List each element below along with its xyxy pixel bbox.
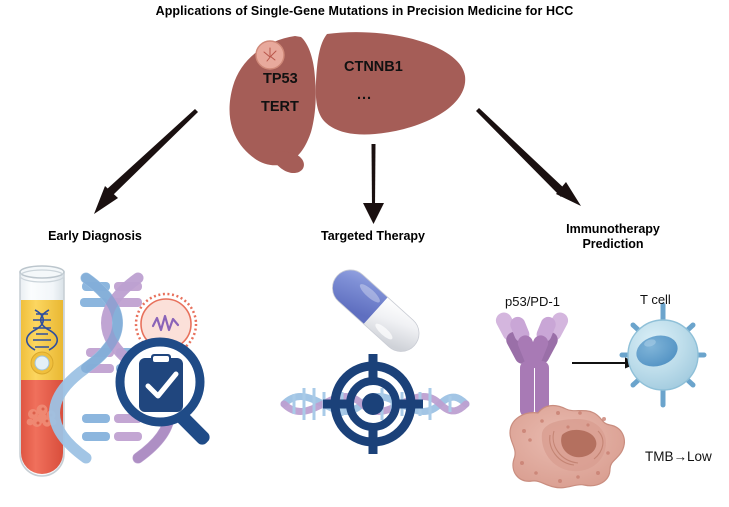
panel-targeted-therapy — [280, 262, 470, 462]
section-label-immunotherapy: Immunotherapy Prediction — [518, 222, 708, 253]
tcell-label: T cell — [640, 292, 671, 307]
arrow-group — [0, 0, 729, 240]
clipboard-icon — [139, 354, 183, 412]
figure-root: Applications of Single-Gene Mutations in… — [0, 0, 729, 507]
tmb-label: TMB→Low — [645, 449, 712, 464]
panel-immunotherapy-prediction — [480, 285, 729, 500]
section-label-early-diagnosis: Early Diagnosis — [10, 229, 180, 244]
panel-early-diagnosis — [8, 262, 238, 487]
arrow-to-targeted-therapy — [363, 144, 384, 224]
crosshair-target-icon — [323, 354, 423, 454]
t-cell-icon — [622, 305, 704, 405]
antibody-label: p53/PD-1 — [505, 294, 560, 309]
pill-capsule-icon — [325, 262, 426, 358]
arrow-to-immunotherapy — [476, 108, 581, 206]
arrow-to-early-diagnosis — [94, 109, 198, 214]
blood-test-tube-icon — [20, 266, 64, 476]
antibody-icon — [493, 310, 571, 417]
tumor-blob-icon — [510, 406, 624, 488]
section-label-targeted-therapy: Targeted Therapy — [288, 229, 458, 244]
